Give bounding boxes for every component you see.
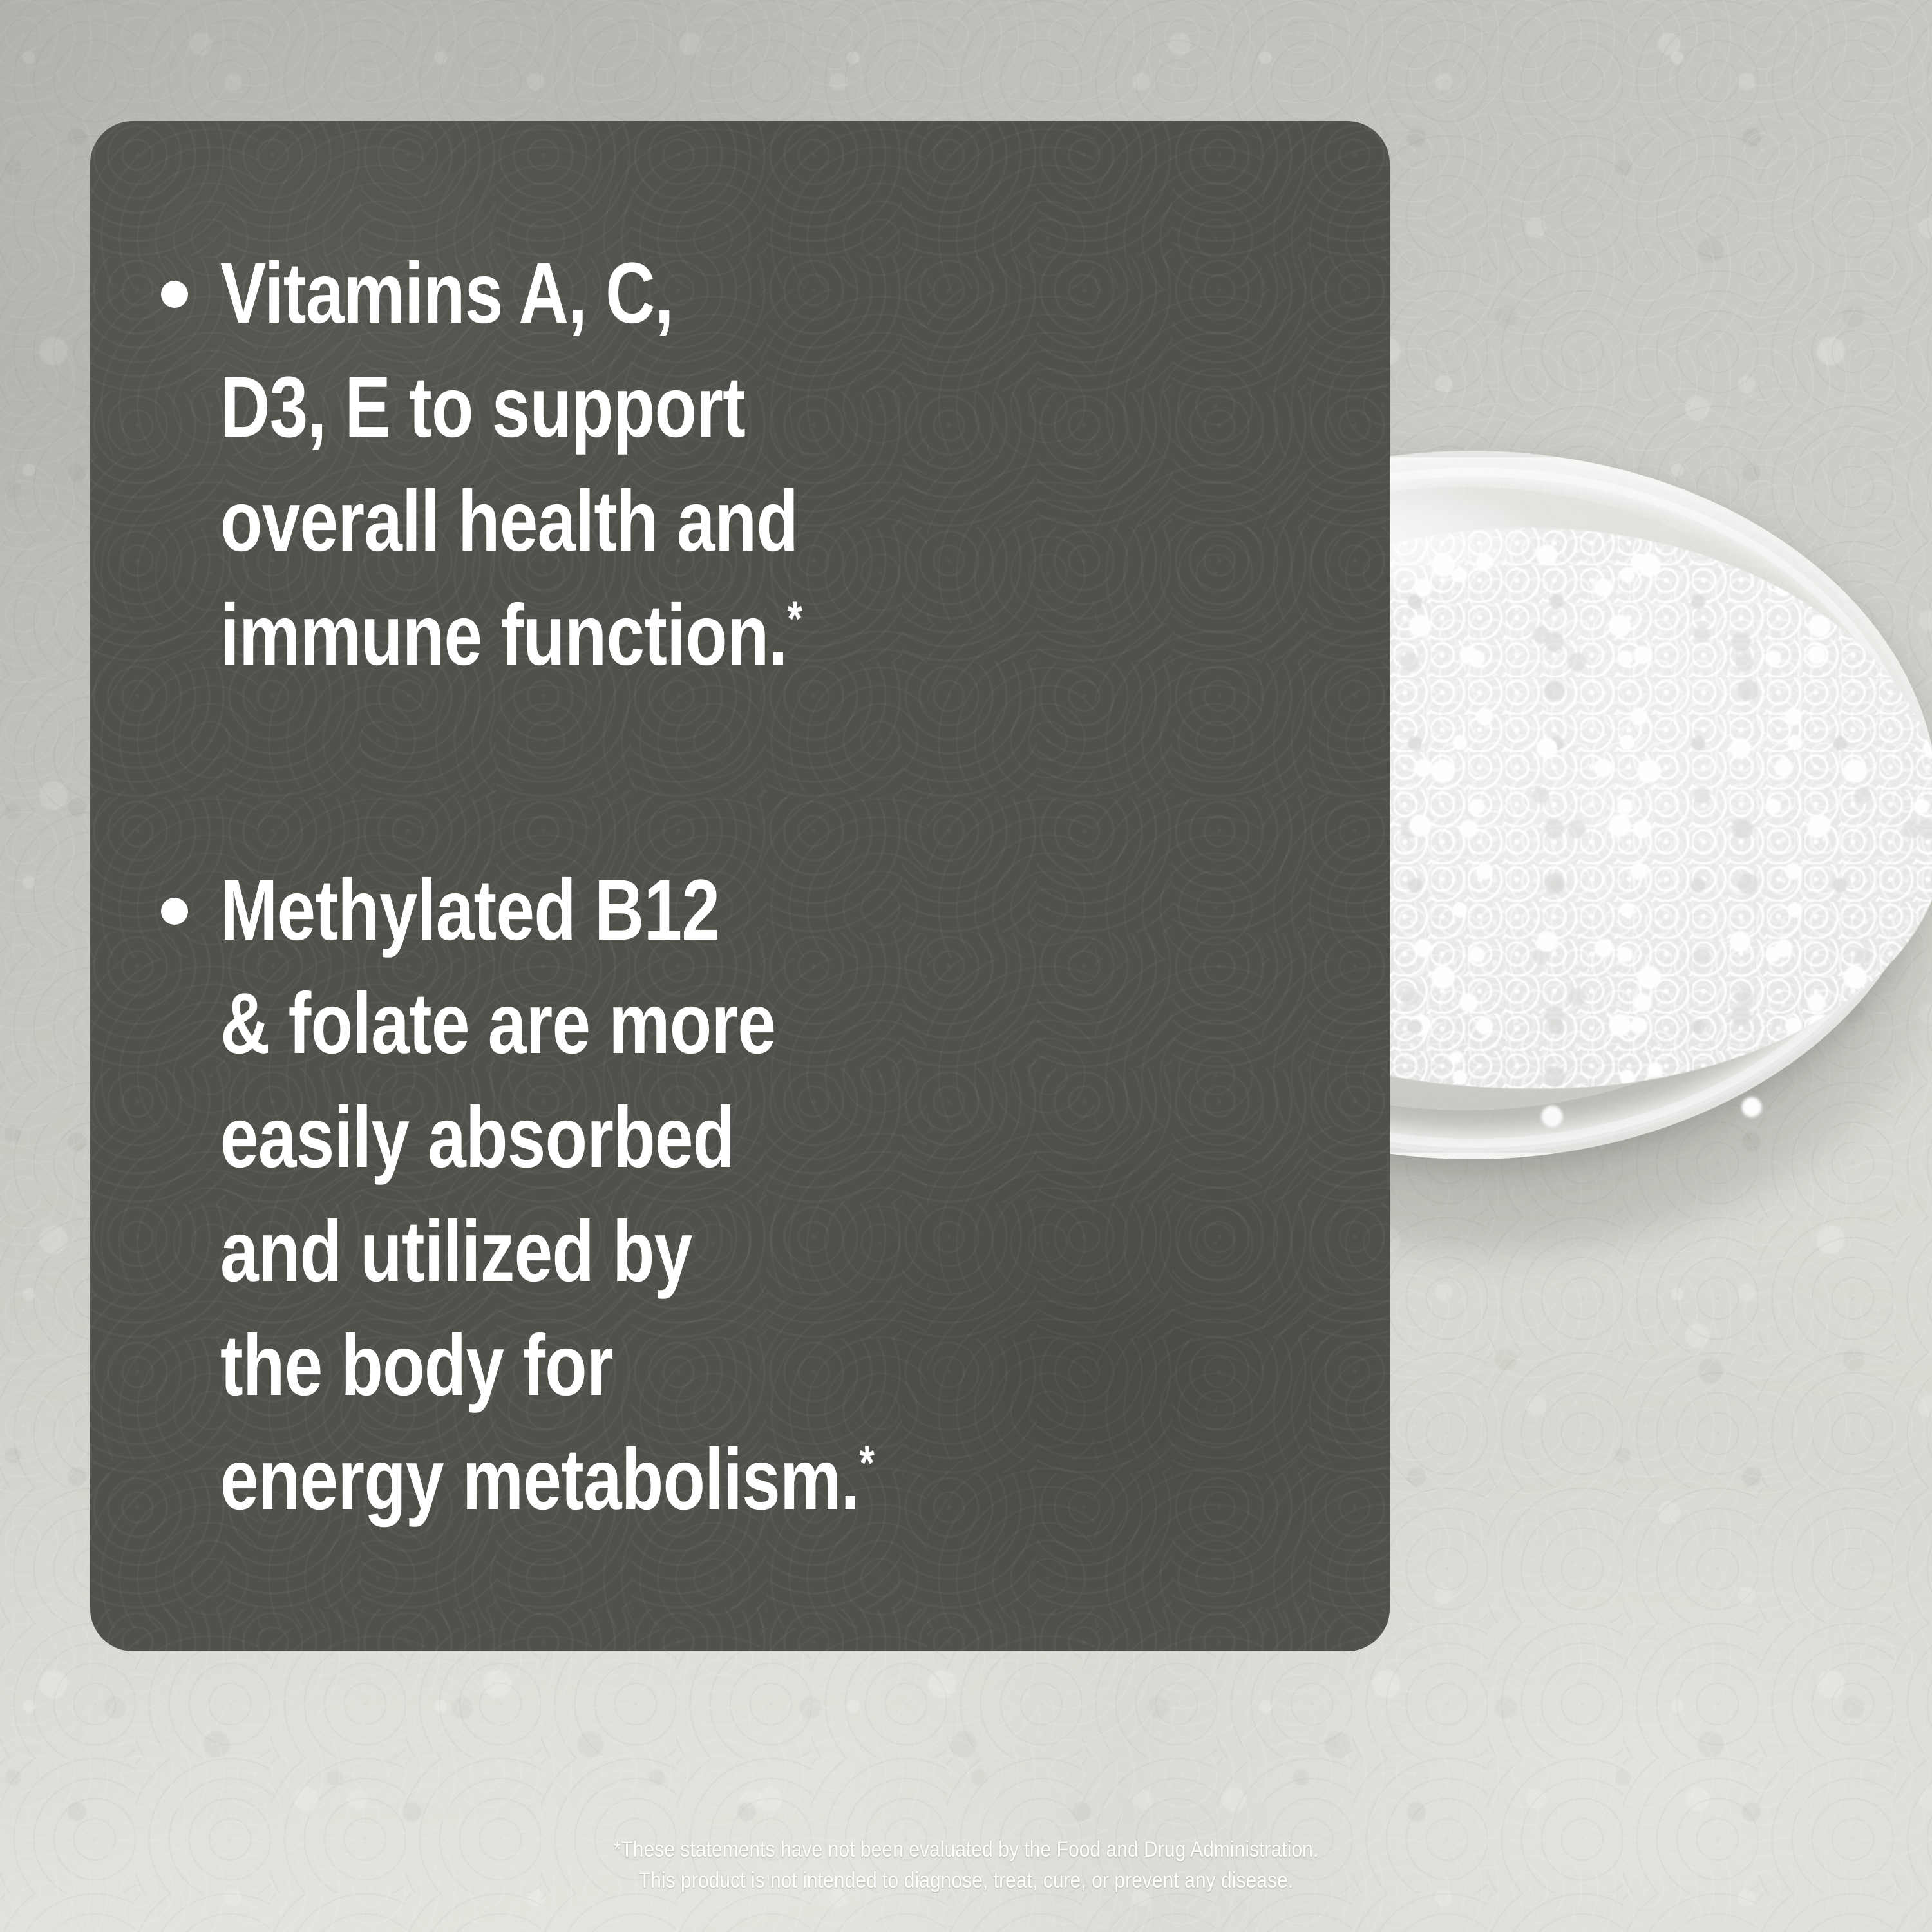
bullet-dot-icon bbox=[161, 281, 188, 308]
list-item: Methylated B12 & folate are more easily … bbox=[161, 854, 1320, 1537]
asterisk-marker: * bbox=[788, 591, 802, 645]
benefits-bullet-list: Vitamins A, C, D3, E to support overall … bbox=[161, 237, 1320, 1537]
product-feature-graphic: Vitamins A, C, D3, E to support overall … bbox=[0, 0, 1932, 1932]
fda-disclaimer-line-2: This product is not intended to diagnose… bbox=[116, 1865, 1816, 1896]
list-item: Vitamins A, C, D3, E to support overall … bbox=[161, 237, 1320, 693]
benefit-text-vitamins: Vitamins A, C, D3, E to support overall … bbox=[220, 237, 1100, 693]
benefits-card: Vitamins A, C, D3, E to support overall … bbox=[90, 121, 1390, 1651]
fda-disclaimer: *These statements have not been evaluate… bbox=[0, 1834, 1932, 1897]
asterisk-marker: * bbox=[859, 1435, 874, 1490]
fda-disclaimer-line-1: *These statements have not been evaluate… bbox=[116, 1834, 1816, 1865]
benefit-text-methylated-b12: Methylated B12 & folate are more easily … bbox=[220, 854, 1100, 1537]
bullet-dot-icon bbox=[161, 898, 188, 925]
